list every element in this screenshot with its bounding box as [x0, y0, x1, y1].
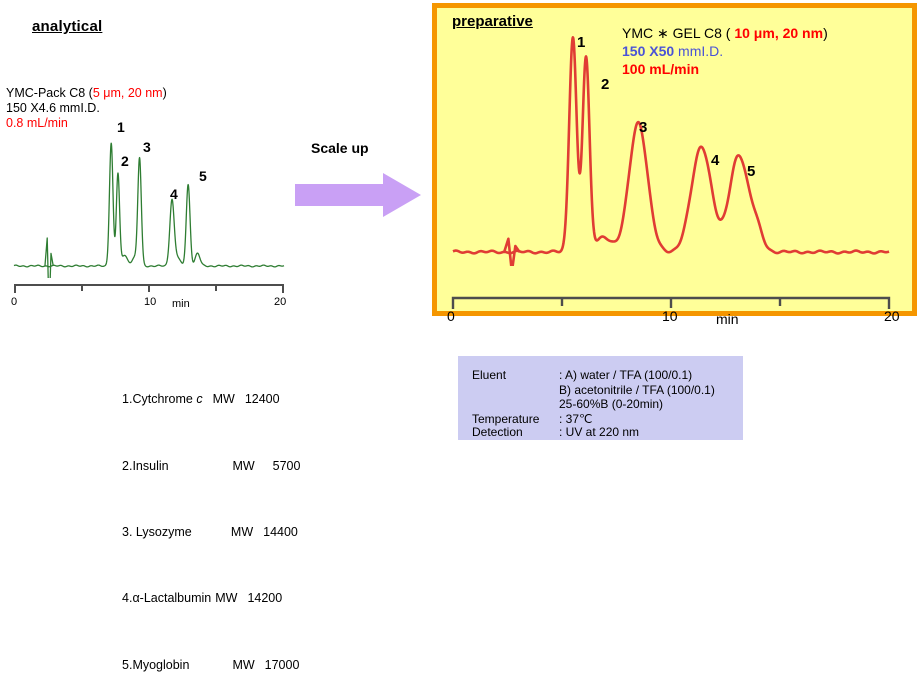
preparative-flowrate-text: 100 mL/min: [622, 60, 828, 78]
preparative-peak-label-2: 2: [601, 76, 609, 93]
legend-name: Cytchrome: [132, 392, 196, 406]
analytical-column-text: YMC-Pack C8 (: [6, 86, 93, 100]
legend-row: 1.Cytchrome cMW12400: [122, 391, 300, 408]
analytical-xaxis-unit: min: [172, 298, 190, 310]
analytical-xtick-0: 0: [11, 296, 17, 308]
legend-mw-value: 14400: [263, 525, 298, 539]
analytical-particle-text: 5 μm, 20 nm: [93, 86, 163, 100]
legend-mw-label: MW: [232, 658, 254, 672]
analytical-peak-label-5: 5: [199, 168, 207, 184]
conditions-value-eluent-b: B) acetonitrile / TFA (100/0.1): [559, 383, 715, 398]
preparative-peak-label-1: 1: [577, 34, 585, 51]
legend-row: 4.α-LactalbuminMW14200: [122, 590, 300, 607]
analytical-dimension-text: 150 X4.6 mmI.D.: [6, 101, 167, 116]
preparative-paren-close: ): [823, 25, 828, 41]
conditions-label-detection: Detection: [472, 425, 523, 440]
analytical-peak-label-1: 1: [117, 119, 125, 135]
preparative-peak-label-5: 5: [747, 163, 755, 180]
scale-up-label: Scale up: [311, 140, 369, 156]
legend-row: 2.InsulinMW5700: [122, 458, 300, 475]
legend-index: 1.: [122, 392, 132, 406]
conditions-label-eluent: Eluent: [472, 368, 506, 383]
legend-mw-value: 5700: [273, 459, 301, 473]
legend-mw-label: MW: [232, 459, 254, 473]
legend-name: α-Lactalbumin: [132, 591, 211, 605]
analytical-xtick-10: 10: [144, 296, 156, 308]
preparative-xtick-10: 10: [662, 308, 678, 324]
legend-name-italic: c: [196, 392, 202, 406]
preparative-length-text: 150: [622, 43, 649, 59]
legend-mw-label: MW: [215, 591, 237, 605]
legend-row: 5.MyoglobinMW17000: [122, 657, 300, 674]
preparative-id-unit: mmI.D.: [674, 43, 723, 59]
analytical-caption-line1: YMC-Pack C8 (5 μm, 20 nm): [6, 86, 167, 101]
legend-name: Lysozyme: [136, 524, 231, 541]
conditions-value-detection: : UV at 220 nm: [559, 425, 639, 440]
legend-mw-label: MW: [231, 525, 253, 539]
legend-name: Insulin: [132, 458, 232, 475]
preparative-xtick-20: 20: [884, 308, 900, 324]
preparative-caption: YMC ∗ GEL C8 ( 10 μm, 20 nm) 150 X50 mmI…: [622, 24, 828, 78]
analytical-title: analytical: [32, 18, 102, 35]
conditions-value-eluent-a: : A) water / TFA (100/0.1): [559, 368, 692, 383]
preparative-peak-label-3: 3: [639, 119, 647, 136]
legend-row: 3. LysozymeMW14400: [122, 524, 300, 541]
legend-index: 4.: [122, 591, 132, 605]
preparative-xtick-0: 0: [447, 308, 455, 324]
preparative-title: preparative: [452, 13, 533, 30]
preparative-caption-line1: YMC ∗ GEL C8 ( 10 μm, 20 nm): [622, 24, 828, 42]
preparative-particle-text: 10 μm, 20 nm: [734, 25, 823, 41]
preparative-caption-line2: 150 X50 mmI.D.: [622, 42, 828, 60]
analytical-peak-label-3: 3: [143, 139, 151, 155]
legend-name: Myoglobin: [132, 657, 232, 674]
preparative-column-text: YMC ∗ GEL C8 (: [622, 25, 734, 41]
legend-mw-value: 12400: [245, 392, 280, 406]
right-arrow-icon: [295, 173, 421, 217]
preparative-xaxis-unit: min: [716, 311, 739, 327]
scale-up-group: Scale up: [295, 140, 425, 225]
preparative-peak-label-4: 4: [711, 152, 719, 169]
preparative-id-text: X50: [649, 43, 674, 59]
compound-legend: 1.Cytchrome cMW12400 2.InsulinMW5700 3. …: [122, 358, 300, 690]
analytical-peak-label-4: 4: [170, 186, 178, 202]
legend-index: 2.: [122, 459, 132, 473]
analytical-peak-label-2: 2: [121, 153, 129, 169]
legend-index: 3.: [122, 525, 136, 539]
legend-mw-value: 14200: [247, 591, 282, 605]
conditions-value-gradient: 25-60%B (0-20min): [559, 397, 663, 412]
legend-mw-label: MW: [213, 392, 235, 406]
legend-mw-value: 17000: [265, 658, 300, 672]
analytical-paren-close: ): [163, 86, 167, 100]
conditions-box: Eluent : A) water / TFA (100/0.1) B) ace…: [458, 356, 743, 440]
legend-index: 5.: [122, 658, 132, 672]
analytical-xtick-20: 20: [274, 296, 286, 308]
